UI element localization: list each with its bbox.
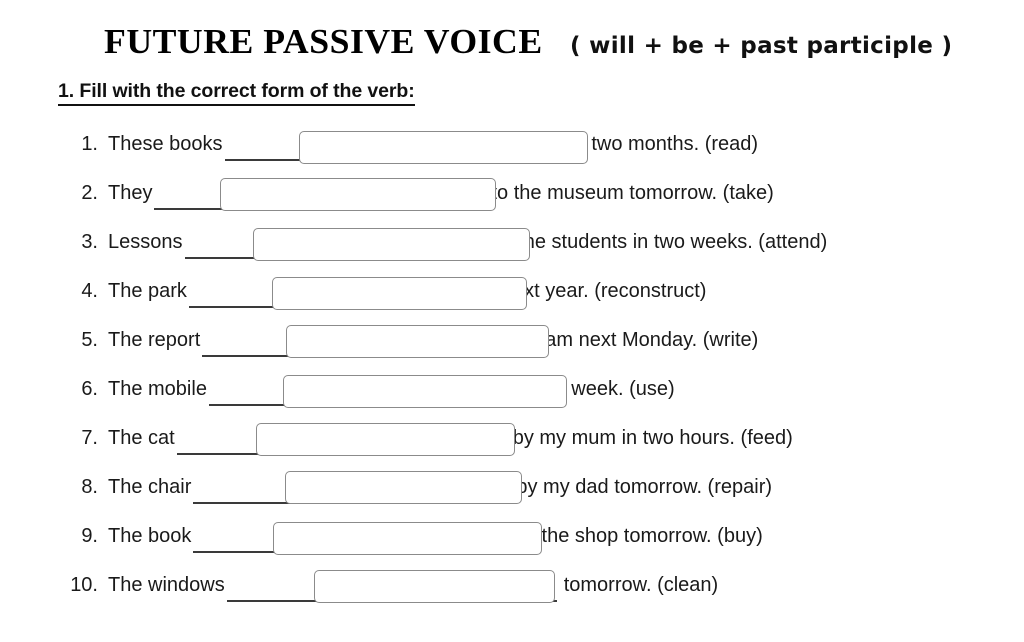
exercise-number: 1. (42, 133, 108, 156)
exercise-number: 4. (42, 280, 108, 303)
answer-input[interactable] (283, 375, 567, 408)
exercise-sentence-start: The cat (108, 427, 175, 450)
worksheet-header: FUTURE PASSIVE VOICE ( will + be + past … (0, 0, 1024, 62)
exercise-sentence-start: The park (108, 280, 187, 303)
exercise-sentence-start: The mobile (108, 378, 207, 401)
answer-input[interactable] (256, 423, 515, 456)
answer-input[interactable] (220, 178, 496, 211)
page-title: FUTURE PASSIVE VOICE (104, 22, 543, 62)
exercise-number: 9. (42, 525, 108, 548)
exercise-number: 8. (42, 476, 108, 499)
exercise-sentence-start: These books (108, 133, 223, 156)
exercise-number: 7. (42, 427, 108, 450)
exercise-sentence-end: by my mum in two hours. (feed) (513, 427, 793, 450)
exercise-number: 6. (42, 378, 108, 401)
exercise-item: 1.These booksin a two months. (read) (0, 120, 1024, 169)
answer-input[interactable] (285, 471, 522, 504)
exercise-sentence-start: The chair (108, 476, 191, 499)
exercise-number: 10. (42, 574, 108, 597)
answer-input[interactable] (314, 570, 555, 603)
exercise-instruction: 1. Fill with the correct form of the ver… (58, 80, 415, 106)
answer-input[interactable] (299, 131, 588, 164)
exercise-list: 1.These booksin a two months. (read)2.Th… (0, 120, 1024, 610)
exercise-item: 9.The bookin the shop tomorrow. (buy) (0, 512, 1024, 561)
exercise-sentence-start: The book (108, 525, 191, 548)
exercise-item: 5.The reportby Sam next Monday. (write) (0, 316, 1024, 365)
exercise-number: 3. (42, 231, 108, 254)
exercise-item: 2.Theyto the museum tomorrow. (take) (0, 169, 1024, 218)
exercise-sentence-end: in the shop tomorrow. (buy) (520, 525, 762, 548)
answer-input[interactable] (272, 277, 527, 310)
answer-input[interactable] (273, 522, 542, 555)
exercise-item: 4.The parknext year. (reconstruct) (0, 267, 1024, 316)
exercise-sentence-start: The report (108, 329, 200, 352)
exercise-sentence-end: tomorrow. (clean) (564, 574, 719, 597)
exercise-sentence-end: by the students in two weeks. (attend) (492, 231, 828, 254)
exercise-item: 8.The chairby my dad tomorrow. (repair) (0, 463, 1024, 512)
exercise-item: 6.The mobilenext week. (use) (0, 365, 1024, 414)
exercise-sentence-end: next year. (reconstruct) (502, 280, 707, 303)
exercise-sentence-start: They (108, 182, 152, 205)
exercise-item: 3.Lessonsby the students in two weeks. (… (0, 218, 1024, 267)
answer-input[interactable] (286, 325, 549, 358)
exercise-number: 2. (42, 182, 108, 205)
exercise-sentence-start: The windows (108, 574, 225, 597)
exercise-number: 5. (42, 329, 108, 352)
answer-input[interactable] (253, 228, 530, 261)
passive-voice-formula: ( will + be + past participle ) (570, 33, 952, 59)
exercise-sentence-start: Lessons (108, 231, 183, 254)
exercise-sentence-end: by my dad tomorrow. (repair) (516, 476, 772, 499)
exercise-item: 7.The catby my mum in two hours. (feed) (0, 414, 1024, 463)
exercise-item: 10.The windowstomorrow. (clean) (0, 561, 1024, 610)
exercise-sentence-end: to the museum tomorrow. (take) (491, 182, 773, 205)
